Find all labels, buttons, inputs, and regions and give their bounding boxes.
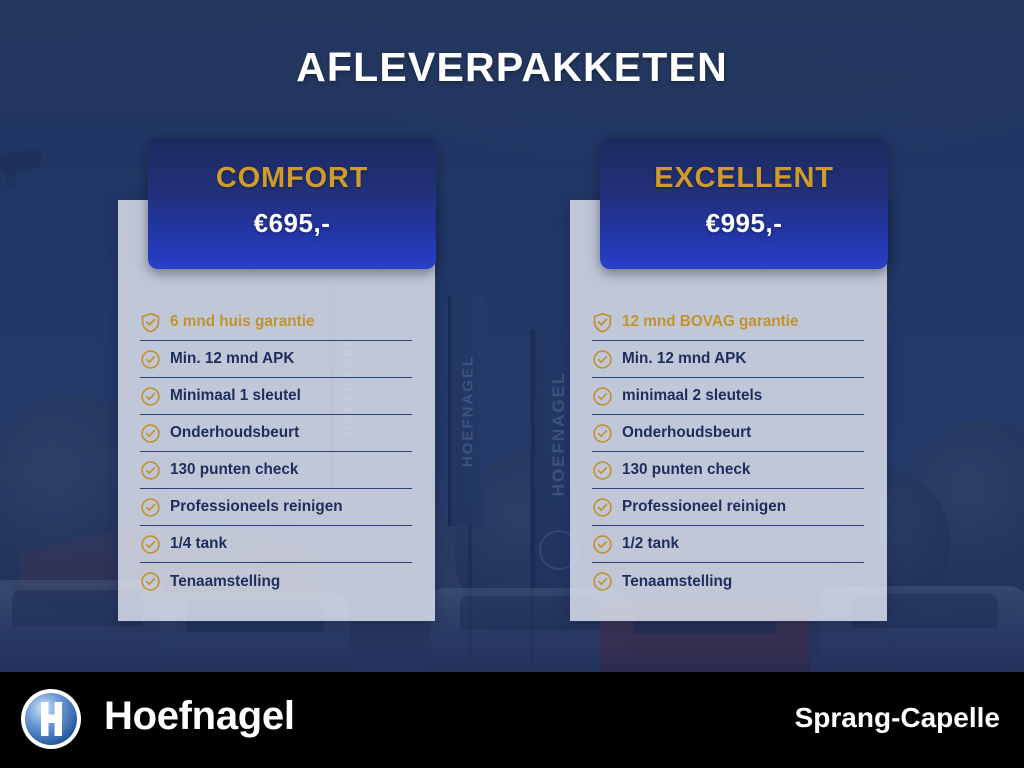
package-card-comfort: COMFORT €695,- 6 mnd huis garantie Min. … (118, 200, 435, 621)
circle-check-icon (592, 386, 613, 407)
list-item[interactable]: 130 punten check (592, 452, 864, 489)
list-item[interactable]: Onderhoudsbeurt (592, 415, 864, 452)
shield-check-icon (140, 312, 161, 333)
list-item[interactable]: minimaal 2 sleutels (592, 378, 864, 415)
list-item[interactable]: Min. 12 mnd APK (140, 341, 412, 378)
list-item[interactable]: Professioneel reinigen (592, 489, 864, 526)
feature-list-excellent: 12 mnd BOVAG garantie Min. 12 mnd APK mi… (592, 304, 864, 600)
list-item[interactable]: 130 punten check (140, 452, 412, 489)
circle-check-icon (592, 460, 613, 481)
list-item-label: Tenaamstelling (170, 573, 280, 591)
circle-check-icon (592, 571, 613, 592)
list-item-label: minimaal 2 sleutels (622, 387, 762, 405)
circle-check-icon (140, 423, 161, 444)
feature-list-comfort: 6 mnd huis garantie Min. 12 mnd APK Mini… (140, 304, 412, 600)
circle-check-icon (592, 497, 613, 518)
circle-check-icon (592, 349, 613, 370)
list-item-label: Professioneels reinigen (170, 498, 343, 516)
list-item-label: 12 mnd BOVAG garantie (622, 313, 799, 331)
list-item-label: Professioneel reinigen (622, 498, 786, 516)
list-item-label: Min. 12 mnd APK (622, 350, 746, 368)
list-item-label: Min. 12 mnd APK (170, 350, 294, 368)
list-item-label: Tenaamstelling (622, 573, 732, 591)
list-item[interactable]: Min. 12 mnd APK (592, 341, 864, 378)
list-item[interactable]: 12 mnd BOVAG garantie (592, 304, 864, 341)
shield-check-icon (592, 312, 613, 333)
list-item[interactable]: Minimaal 1 sleutel (140, 378, 412, 415)
circle-check-icon (140, 386, 161, 407)
circle-check-icon (592, 534, 613, 555)
list-item[interactable]: Tenaamstelling (140, 563, 412, 600)
list-item-label: Onderhoudsbeurt (170, 424, 299, 442)
footer-bar: Hoefnagel Sprang-Capelle (0, 672, 1024, 768)
card-header-comfort: COMFORT €695,- (148, 138, 436, 269)
list-item-label: 1/2 tank (622, 535, 679, 553)
circle-check-icon (140, 497, 161, 518)
list-item[interactable]: 6 mnd huis garantie (140, 304, 412, 341)
list-item[interactable]: 1/2 tank (592, 526, 864, 563)
hoefnagel-h-logo-icon (18, 686, 84, 752)
package-name: COMFORT (148, 162, 436, 195)
circle-check-icon (140, 571, 161, 592)
brand-name: Hoefnagel (104, 694, 295, 739)
package-price: €995,- (600, 208, 888, 239)
list-item[interactable]: Onderhoudsbeurt (140, 415, 412, 452)
list-item[interactable]: 1/4 tank (140, 526, 412, 563)
list-item[interactable]: Professioneels reinigen (140, 489, 412, 526)
slide-canvas: HOEFNAGEL HOEFNAGEL HOEFNAGEL AFL (0, 0, 1024, 768)
page-title: AFLEVERPAKKETEN (0, 44, 1024, 91)
circle-check-icon (140, 534, 161, 555)
location-name: Sprang-Capelle (795, 702, 1000, 734)
package-card-excellent: EXCELLENT €995,- 12 mnd BOVAG garantie M… (570, 200, 887, 621)
list-item-label: Minimaal 1 sleutel (170, 387, 301, 405)
list-item[interactable]: Tenaamstelling (592, 563, 864, 600)
card-header-excellent: EXCELLENT €995,- (600, 138, 888, 269)
package-price: €695,- (148, 208, 436, 239)
circle-check-icon (592, 423, 613, 444)
circle-check-icon (140, 349, 161, 370)
list-item-label: 130 punten check (170, 461, 298, 479)
circle-check-icon (140, 460, 161, 481)
list-item-label: 130 punten check (622, 461, 750, 479)
list-item-label: 1/4 tank (170, 535, 227, 553)
list-item-label: 6 mnd huis garantie (170, 313, 315, 331)
package-name: EXCELLENT (600, 162, 888, 195)
list-item-label: Onderhoudsbeurt (622, 424, 751, 442)
